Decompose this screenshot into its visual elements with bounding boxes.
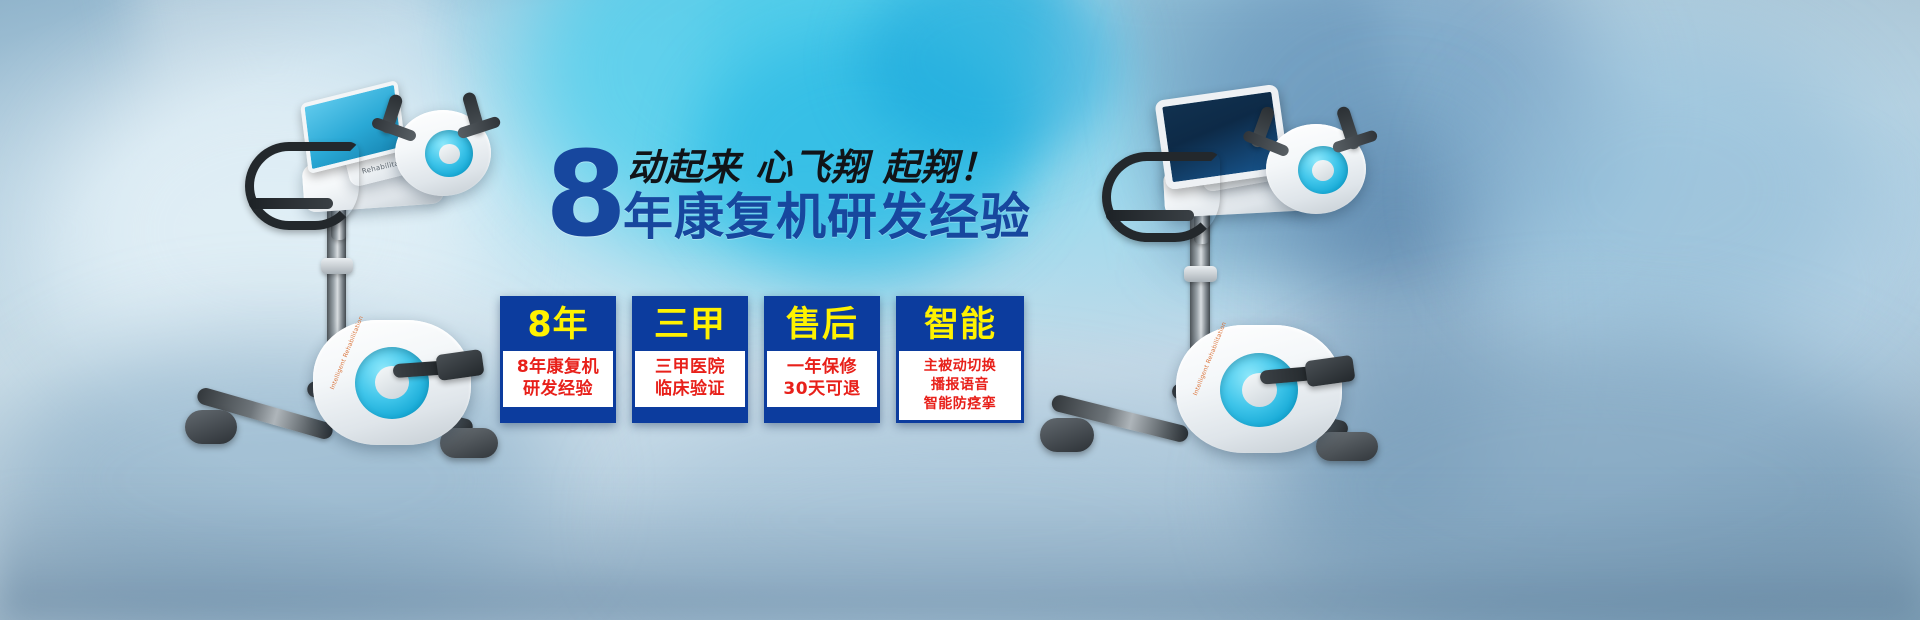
feature-box-aftersales[interactable]: 售后 一年保修 30天可退 xyxy=(764,296,880,423)
feature-box-years[interactable]: 8年 8年康复机 研发经验 xyxy=(500,296,616,423)
feature-box-hospital-title: 三甲 xyxy=(635,299,745,351)
feature-box-hospital-body: 三甲医院 临床验证 xyxy=(635,351,745,407)
headline-block: 8 动起来 心飞翔 起翔！ 年康复机研发经验 xyxy=(545,140,1105,275)
feature-line: 播报语音 xyxy=(931,376,989,394)
headline-subtitle: 年康复机研发经验 xyxy=(623,188,1031,246)
headline-slogan: 动起来 心飞翔 起翔！ xyxy=(627,146,997,190)
feature-box-hospital[interactable]: 三甲 三甲医院 临床验证 xyxy=(632,296,748,423)
feature-line: 临床验证 xyxy=(655,379,725,400)
feature-box-years-title: 8年 xyxy=(503,299,613,351)
feature-line: 研发经验 xyxy=(523,379,593,400)
feature-line: 智能防痉挛 xyxy=(924,395,997,413)
headline-big-number: 8 xyxy=(545,140,625,248)
feature-box-smart-body: 主被动切换 播报语音 智能防痉挛 xyxy=(899,351,1021,420)
feature-line: 三甲医院 xyxy=(655,357,725,378)
product-image-left: Intelligent Rehabilitation Rehabilitatio… xyxy=(185,70,565,520)
feature-line: 主被动切换 xyxy=(924,357,997,375)
feature-line: 30天可退 xyxy=(783,379,860,400)
feature-box-smart-title: 智能 xyxy=(899,299,1021,351)
feature-box-aftersales-title: 售后 xyxy=(767,299,877,351)
product-image-right: Intelligent Rehabilitation Rehabilitatio… xyxy=(1040,70,1440,520)
feature-box-list: 8年 8年康复机 研发经验 三甲 三甲医院 临床验证 售后 一年保修 30天可退… xyxy=(500,296,1024,423)
feature-line: 8年康复机 xyxy=(517,357,599,378)
feature-box-smart[interactable]: 智能 主被动切换 播报语音 智能防痉挛 xyxy=(896,296,1024,423)
promo-banner: Intelligent Rehabilitation Rehabilitatio… xyxy=(0,0,1920,620)
feature-box-aftersales-body: 一年保修 30天可退 xyxy=(767,351,877,407)
feature-line: 一年保修 xyxy=(787,357,857,378)
feature-box-years-body: 8年康复机 研发经验 xyxy=(503,351,613,407)
